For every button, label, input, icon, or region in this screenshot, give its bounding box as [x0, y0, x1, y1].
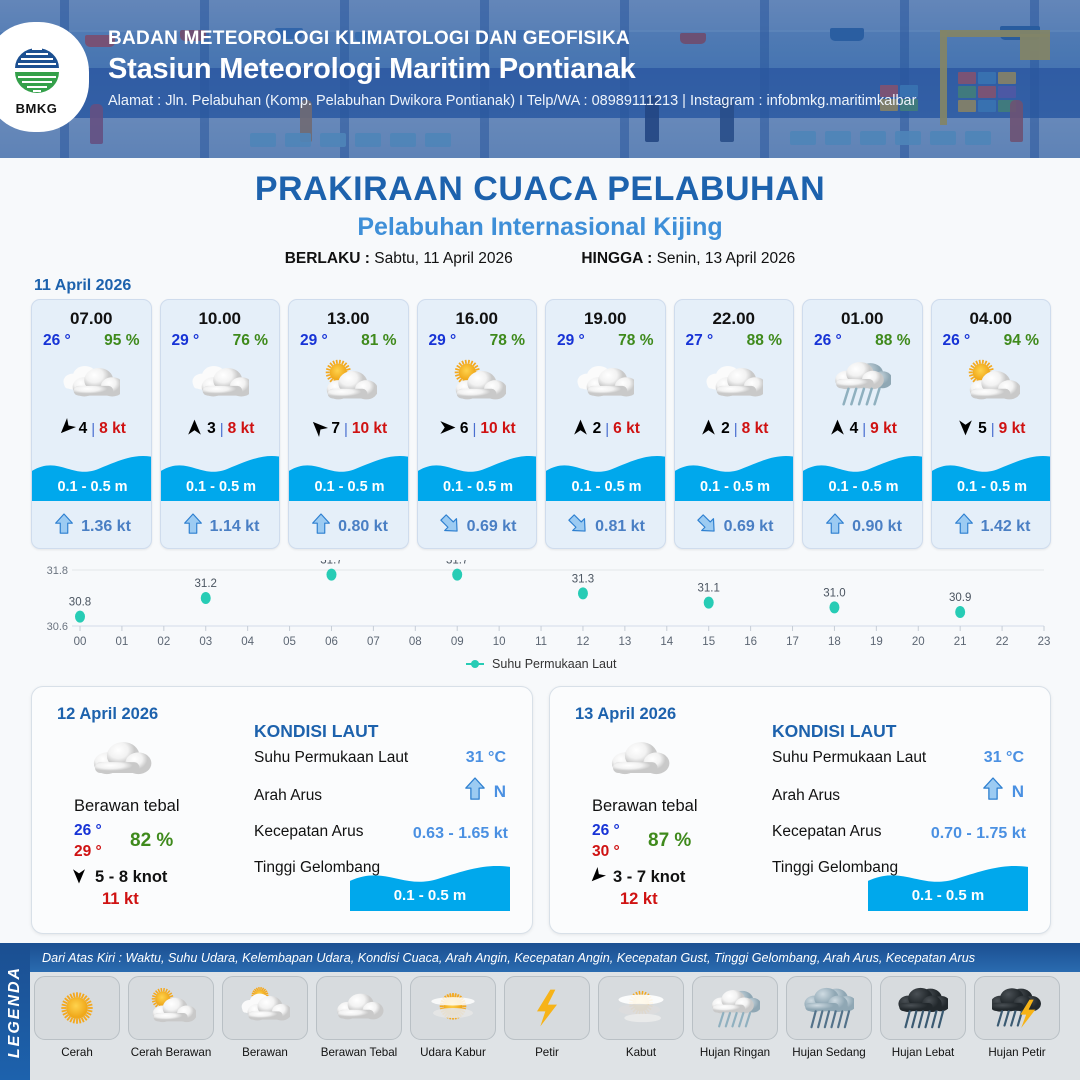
- current-speed-value: 0.63 - 1.65 kt: [413, 825, 508, 843]
- sea-condition-title: KONDISI LAUT: [772, 721, 896, 742]
- card-temperature: 29 °: [429, 332, 457, 350]
- current-direction-group: N: [982, 777, 1024, 806]
- day-wave-box: 0.1 - 0.5 m: [350, 853, 510, 911]
- forecast-card: 16.00 29 ° 78 % 6 | 10: [417, 299, 538, 549]
- separator: |: [91, 421, 95, 438]
- svg-text:30.6: 30.6: [47, 621, 68, 633]
- partly-cloudy-icon: [932, 354, 1051, 412]
- bmkg-logo-text: BMKG: [16, 101, 58, 116]
- svg-text:13: 13: [618, 636, 631, 648]
- lightning-icon: [504, 976, 590, 1040]
- sea-row-label-current-direction: Arah Arus: [254, 787, 322, 805]
- current-direction-arrow-icon: [440, 513, 460, 540]
- valid-until-label: HINGGA :: [581, 250, 652, 267]
- separator: |: [220, 421, 224, 438]
- current-speed-value: 1.36 kt: [81, 518, 131, 536]
- daily-forecast-panel: 12 April 2026 Berawan tebal 26 ° 29 ° 82…: [31, 686, 533, 934]
- day-wave-box: 0.1 - 0.5 m: [868, 853, 1028, 911]
- agency-name: BADAN METEOROLOGI KLIMATOLOGI DAN GEOFIS…: [108, 28, 1048, 50]
- legend-item: Hujan Ringan: [692, 976, 778, 1059]
- wind-direction-value: 4: [79, 420, 88, 438]
- sea-condition-title: KONDISI LAUT: [254, 721, 378, 742]
- moderate-rain-icon: [786, 976, 872, 1040]
- wind-direction-arrow-icon: [438, 418, 457, 440]
- wave-height-value: 0.1 - 0.5 m: [161, 479, 281, 495]
- sunny-icon: [34, 976, 120, 1040]
- wind-gust-value: 8 kt: [99, 420, 126, 438]
- forecast-card: 07.00 26 ° 95 %: [31, 299, 152, 549]
- wave-height-value: 0.1 - 0.5 m: [289, 479, 409, 495]
- thunderstorm-icon: [974, 976, 1060, 1040]
- legend-item-label: Udara Kabur: [410, 1046, 496, 1059]
- validity-row: BERLAKU : Sabtu, 11 April 2026 HINGGA : …: [0, 250, 1080, 268]
- card-humidity: 78 %: [618, 332, 653, 350]
- card-humidity: 88 %: [875, 332, 910, 350]
- card-wave-zone: 0.1 - 0.5 m: [32, 443, 152, 501]
- bmkg-logo: BMKG: [0, 22, 89, 132]
- sea-row-label-sst: Suhu Permukaan Laut: [254, 749, 408, 767]
- chart-legend-marker: [466, 658, 484, 672]
- fog-icon: [598, 976, 684, 1040]
- wind-gust-value: 9 kt: [999, 420, 1026, 438]
- card-wind-row: 2 | 6 kt: [546, 418, 665, 440]
- card-time: 07.00: [32, 309, 151, 329]
- legend-item-label: Hujan Sedang: [786, 1046, 872, 1059]
- card-values: 29 ° 81 %: [289, 329, 408, 350]
- forecast-card: 13.00 29 ° 81 % 7 | 10: [288, 299, 409, 549]
- card-wind-row: 4 | 9 kt: [803, 418, 922, 440]
- card-wind-row: 5 | 9 kt: [932, 418, 1051, 440]
- wind-direction-arrow-icon: [956, 418, 975, 440]
- station-name: Stasiun Meteorologi Maritim Pontianak: [108, 53, 1048, 86]
- svg-text:31.3: 31.3: [572, 573, 594, 585]
- hourly-forecast-row: 07.00 26 ° 95 %: [31, 299, 1051, 549]
- svg-text:31.2: 31.2: [195, 578, 217, 590]
- card-current-row: 1.42 kt: [932, 513, 1052, 540]
- card-wave-zone: 0.1 - 0.5 m: [418, 443, 538, 501]
- day-temp-max: 30 °: [592, 843, 620, 861]
- overcast-icon: [608, 729, 670, 796]
- wind-direction-arrow-icon: [309, 418, 328, 440]
- overcast-icon: [90, 729, 152, 796]
- wind-direction-arrow-icon: [57, 418, 76, 440]
- svg-text:14: 14: [660, 636, 673, 648]
- card-wave-zone: 0.1 - 0.5 m: [675, 443, 795, 501]
- sea-surface-temperature-value: 31 °C: [466, 749, 506, 767]
- separator: |: [734, 421, 738, 438]
- card-current-row: 0.69 kt: [418, 513, 538, 540]
- day-temp-min: 26 °: [592, 822, 620, 840]
- legend-item: Cerah: [34, 976, 120, 1059]
- wave-height-value: 0.1 - 0.5 m: [803, 479, 923, 495]
- day-wind-gust: 12 kt: [620, 890, 658, 909]
- current-direction-arrow-icon: [311, 513, 331, 540]
- svg-text:00: 00: [74, 636, 87, 648]
- svg-text:31.7: 31.7: [320, 560, 342, 567]
- svg-text:16: 16: [744, 636, 757, 648]
- legend-note: Dari Atas Kiri : Waktu, Suhu Udara, Kele…: [30, 943, 1080, 972]
- card-current-row: 0.69 kt: [675, 513, 795, 540]
- valid-from-value: Sabtu, 11 April 2026: [374, 250, 512, 267]
- current-speed-value: 0.80 kt: [338, 518, 388, 536]
- svg-text:20: 20: [912, 636, 925, 648]
- card-time: 10.00: [161, 309, 280, 329]
- card-time: 16.00: [418, 309, 537, 329]
- svg-text:31.0: 31.0: [823, 587, 845, 599]
- card-values: 29 ° 78 %: [418, 329, 537, 350]
- day-temp-max: 29 °: [74, 843, 102, 861]
- sea-row-label-sst: Suhu Permukaan Laut: [772, 749, 926, 767]
- day-wind-row: 5 - 8 knot: [70, 867, 167, 888]
- legend-item-label: Hujan Lebat: [880, 1046, 966, 1059]
- svg-text:04: 04: [241, 636, 254, 648]
- legend-item: Cerah Berawan: [128, 976, 214, 1059]
- sea-row-label-current-speed: Kecepatan Arus: [254, 823, 363, 841]
- separator: |: [862, 421, 866, 438]
- card-wave-zone: 0.1 - 0.5 m: [546, 443, 666, 501]
- wave-height-value: 0.1 - 0.5 m: [32, 479, 152, 495]
- card-temperature: 26 °: [43, 332, 71, 350]
- legend-item-label: Berawan: [222, 1046, 308, 1059]
- day-wave-height-value: 0.1 - 0.5 m: [868, 887, 1028, 904]
- wind-direction-arrow-icon: [588, 867, 606, 888]
- card-wind-row: 2 | 8 kt: [675, 418, 794, 440]
- card-temperature: 26 °: [943, 332, 971, 350]
- wind-direction-arrow-icon: [70, 867, 88, 888]
- legenda-label: LEGENDA: [6, 965, 24, 1057]
- day-temp-min: 26 °: [74, 822, 102, 840]
- current-direction-arrow-icon: [982, 777, 1004, 806]
- partly-cloudy-icon: [418, 354, 537, 412]
- legend-item: Berawan: [222, 976, 308, 1059]
- light-rain-icon: [803, 354, 922, 412]
- sst-chart: 31.830.600010203040506070809101112131415…: [28, 560, 1054, 680]
- page-title: PRAKIRAAN CUACA PELABUHAN: [0, 170, 1080, 209]
- svg-text:12: 12: [577, 636, 590, 648]
- svg-text:22: 22: [996, 636, 1009, 648]
- current-speed-value: 0.69 kt: [724, 518, 774, 536]
- svg-text:30.9: 30.9: [949, 592, 971, 604]
- day-date: 12 April 2026: [57, 705, 158, 724]
- card-temperature: 27 °: [686, 332, 714, 350]
- svg-text:01: 01: [116, 636, 129, 648]
- cloudy-icon: [32, 354, 151, 412]
- sea-surface-temperature-value: 31 °C: [984, 749, 1024, 767]
- forecast-card: 10.00 29 ° 76 %: [160, 299, 281, 549]
- card-time: 19.00: [546, 309, 665, 329]
- valid-from-label: BERLAKU :: [285, 250, 370, 267]
- svg-text:30.8: 30.8: [69, 597, 91, 609]
- svg-text:08: 08: [409, 636, 422, 648]
- forecast-card: 01.00 26 ° 88 %: [802, 299, 923, 549]
- sea-row-label-current-speed: Kecepatan Arus: [772, 823, 881, 841]
- current-speed-value: 1.42 kt: [981, 518, 1031, 536]
- svg-text:31.8: 31.8: [47, 565, 68, 577]
- card-values: 27 ° 88 %: [675, 329, 794, 350]
- legend-item: Petir: [504, 976, 590, 1059]
- wind-gust-value: 10 kt: [480, 420, 515, 438]
- current-speed-value: 0.69 kt: [467, 518, 517, 536]
- wind-direction-arrow-icon: [699, 418, 718, 440]
- day-humidity: 87 %: [648, 830, 691, 852]
- svg-text:19: 19: [870, 636, 883, 648]
- day-wind-gust: 11 kt: [102, 890, 139, 909]
- card-values: 26 ° 88 %: [803, 329, 922, 350]
- day-date: 13 April 2026: [575, 705, 676, 724]
- cloudy-icon: [546, 354, 665, 412]
- wind-direction-arrow-icon: [828, 418, 847, 440]
- chart-legend: Suhu Permukaan Laut: [28, 657, 1054, 672]
- day-wind-row: 3 - 7 knot: [588, 867, 685, 888]
- wind-gust-value: 8 kt: [742, 420, 769, 438]
- forecast-date: 11 April 2026: [34, 277, 131, 295]
- current-direction-arrow-icon: [954, 513, 974, 540]
- card-current-row: 0.81 kt: [546, 513, 666, 540]
- current-direction-group: N: [464, 777, 506, 806]
- current-direction-label: N: [494, 782, 506, 802]
- svg-text:23: 23: [1038, 636, 1051, 648]
- forecast-card: 19.00 29 ° 78 %: [545, 299, 666, 549]
- card-temperature: 29 °: [557, 332, 585, 350]
- current-direction-label: N: [1012, 782, 1024, 802]
- valid-until-value: Senin, 13 April 2026: [657, 250, 796, 267]
- svg-text:15: 15: [702, 636, 715, 648]
- light-rain-icon: [692, 976, 778, 1040]
- cloudy-icon: [675, 354, 794, 412]
- forecast-card: 04.00 26 ° 94 % 5 | 9: [931, 299, 1052, 549]
- overcast-icon: [316, 976, 402, 1040]
- svg-text:07: 07: [367, 636, 380, 648]
- wind-direction-arrow-icon: [571, 418, 590, 440]
- wind-direction-value: 5: [978, 420, 987, 438]
- card-wind-row: 4 | 8 kt: [32, 418, 151, 440]
- wind-direction-value: 6: [460, 420, 469, 438]
- partly-cloudy-icon: [289, 354, 408, 412]
- legend-item: Hujan Sedang: [786, 976, 872, 1059]
- card-time: 22.00: [675, 309, 794, 329]
- current-direction-arrow-icon: [568, 513, 588, 540]
- card-humidity: 94 %: [1004, 332, 1039, 350]
- card-humidity: 81 %: [361, 332, 396, 350]
- legend-item-label: Cerah Berawan: [128, 1046, 214, 1059]
- current-speed-value: 0.70 - 1.75 kt: [931, 825, 1026, 843]
- card-wave-zone: 0.1 - 0.5 m: [932, 443, 1052, 501]
- page-header: BMKG BADAN METEOROLOGI KLIMATOLOGI DAN G…: [0, 0, 1080, 158]
- card-wave-zone: 0.1 - 0.5 m: [161, 443, 281, 501]
- card-temperature: 29 °: [300, 332, 328, 350]
- card-wind-row: 3 | 8 kt: [161, 418, 280, 440]
- wind-direction-value: 3: [207, 420, 216, 438]
- wave-height-value: 0.1 - 0.5 m: [418, 479, 538, 495]
- legend-item: Hujan Petir: [974, 976, 1060, 1059]
- current-direction-arrow-icon: [183, 513, 203, 540]
- legend-item: Hujan Lebat: [880, 976, 966, 1059]
- day-wave-height-value: 0.1 - 0.5 m: [350, 887, 510, 904]
- separator: |: [472, 421, 476, 438]
- sea-row-label-current-direction: Arah Arus: [772, 787, 840, 805]
- card-wind-row: 7 | 10 kt: [289, 418, 408, 440]
- svg-text:11: 11: [535, 636, 547, 648]
- wave-height-value: 0.1 - 0.5 m: [546, 479, 666, 495]
- wave-height-value: 0.1 - 0.5 m: [932, 479, 1052, 495]
- card-humidity: 78 %: [490, 332, 525, 350]
- current-direction-arrow-icon: [464, 777, 486, 806]
- daily-forecast-row: 12 April 2026 Berawan tebal 26 ° 29 ° 82…: [31, 686, 1051, 934]
- card-values: 29 ° 76 %: [161, 329, 280, 350]
- wave-height-value: 0.1 - 0.5 m: [675, 479, 795, 495]
- title-block: PRAKIRAAN CUACA PELABUHAN Pelabuhan Inte…: [0, 170, 1080, 268]
- svg-text:18: 18: [828, 636, 841, 648]
- legend-item-label: Petir: [504, 1046, 590, 1059]
- legend-item-label: Hujan Petir: [974, 1046, 1060, 1059]
- svg-text:09: 09: [451, 636, 464, 648]
- separator: |: [605, 421, 609, 438]
- card-current-row: 1.14 kt: [161, 513, 281, 540]
- legend-icon-row: Cerah Cerah Berawan: [34, 976, 1076, 1059]
- chart-legend-label: Suhu Permukaan Laut: [492, 657, 616, 671]
- page-subtitle: Pelabuhan Internasional Kijing: [0, 213, 1080, 242]
- cloudy-icon: [161, 354, 280, 412]
- svg-text:10: 10: [493, 636, 506, 648]
- card-temperature: 29 °: [172, 332, 200, 350]
- mostly-cloudy-icon: [222, 976, 308, 1040]
- svg-text:06: 06: [325, 636, 338, 648]
- card-humidity: 76 %: [233, 332, 268, 350]
- header-text-block: BADAN METEOROLOGI KLIMATOLOGI DAN GEOFIS…: [108, 28, 1048, 109]
- separator: |: [991, 421, 995, 438]
- legend-item: Udara Kabur: [410, 976, 496, 1059]
- card-values: 29 ° 78 %: [546, 329, 665, 350]
- wind-gust-value: 9 kt: [870, 420, 897, 438]
- card-wind-row: 6 | 10 kt: [418, 418, 537, 440]
- svg-text:21: 21: [954, 636, 967, 648]
- card-values: 26 ° 95 %: [32, 329, 151, 350]
- svg-text:02: 02: [157, 636, 170, 648]
- legend-item-label: Hujan Ringan: [692, 1046, 778, 1059]
- wind-gust-value: 8 kt: [228, 420, 255, 438]
- daily-forecast-panel: 13 April 2026 Berawan tebal 26 ° 30 ° 87…: [549, 686, 1051, 934]
- card-current-row: 0.80 kt: [289, 513, 409, 540]
- wind-direction-value: 4: [850, 420, 859, 438]
- svg-text:31.1: 31.1: [698, 583, 720, 595]
- current-direction-arrow-icon: [825, 513, 845, 540]
- wind-gust-value: 6 kt: [613, 420, 640, 438]
- legend-item-label: Kabut: [598, 1046, 684, 1059]
- current-direction-arrow-icon: [54, 513, 74, 540]
- legend-item-label: Cerah: [34, 1046, 120, 1059]
- svg-text:17: 17: [786, 636, 799, 648]
- card-humidity: 88 %: [747, 332, 782, 350]
- svg-text:03: 03: [199, 636, 212, 648]
- day-condition: Berawan tebal: [74, 797, 180, 816]
- heavy-rain-icon: [880, 976, 966, 1040]
- wind-direction-value: 7: [331, 420, 340, 438]
- card-wave-zone: 0.1 - 0.5 m: [803, 443, 923, 501]
- card-time: 04.00: [932, 309, 1051, 329]
- day-wind-range: 3 - 7 knot: [613, 868, 685, 887]
- forecast-card: 22.00 27 ° 88 %: [674, 299, 795, 549]
- day-humidity: 82 %: [130, 830, 173, 852]
- station-address: Alamat : Jln. Pelabuhan (Komp. Pelabuhan…: [108, 93, 1048, 109]
- day-condition: Berawan tebal: [592, 797, 698, 816]
- bmkg-logo-mark: [9, 38, 65, 100]
- card-current-row: 1.36 kt: [32, 513, 152, 540]
- card-time: 13.00: [289, 309, 408, 329]
- card-time: 01.00: [803, 309, 922, 329]
- card-humidity: 95 %: [104, 332, 139, 350]
- svg-text:31.7: 31.7: [446, 560, 468, 567]
- svg-text:05: 05: [283, 636, 296, 648]
- legend-item-label: Berawan Tebal: [316, 1046, 402, 1059]
- card-temperature: 26 °: [814, 332, 842, 350]
- current-speed-value: 1.14 kt: [210, 518, 260, 536]
- card-current-row: 0.90 kt: [803, 513, 923, 540]
- wind-direction-arrow-icon: [185, 418, 204, 440]
- legenda-sidebar: LEGENDA: [0, 943, 30, 1080]
- wind-gust-value: 10 kt: [352, 420, 387, 438]
- wind-direction-value: 2: [721, 420, 730, 438]
- partly-cloudy-icon: [128, 976, 214, 1040]
- legend-item: Kabut: [598, 976, 684, 1059]
- current-speed-value: 0.81 kt: [595, 518, 645, 536]
- wind-direction-value: 2: [593, 420, 602, 438]
- legend-item: Berawan Tebal: [316, 976, 402, 1059]
- current-speed-value: 0.90 kt: [852, 518, 902, 536]
- card-values: 26 ° 94 %: [932, 329, 1051, 350]
- day-wind-range: 5 - 8 knot: [95, 868, 167, 887]
- separator: |: [344, 421, 348, 438]
- current-direction-arrow-icon: [697, 513, 717, 540]
- haze-icon: [410, 976, 496, 1040]
- card-wave-zone: 0.1 - 0.5 m: [289, 443, 409, 501]
- legend-section: LEGENDA Dari Atas Kiri : Waktu, Suhu Uda…: [0, 943, 1080, 1080]
